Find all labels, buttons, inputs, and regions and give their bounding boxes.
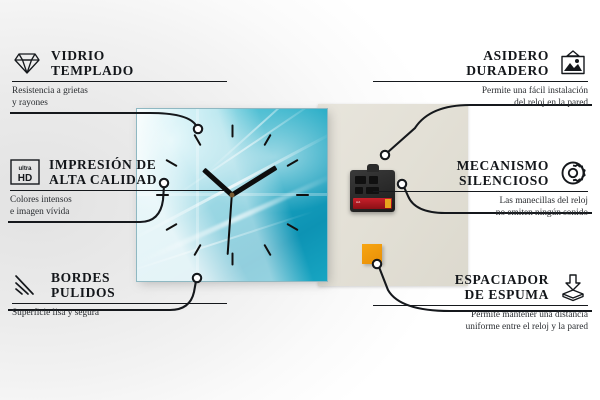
feature-title-line1: BORDES — [51, 270, 110, 285]
feature-title-line2: SILENCIOSO — [459, 173, 549, 188]
svg-text:HD: HD — [18, 173, 32, 184]
feature-title-line2: DE ESPUMA — [464, 287, 549, 302]
clock-tick — [263, 244, 271, 256]
feature-title-line1: MECANISMO — [457, 158, 549, 173]
clock-tick — [231, 253, 233, 266]
feature-title-line2: PULIDOS — [51, 285, 115, 300]
foam-spacer — [362, 244, 382, 264]
gear-icon — [558, 158, 588, 188]
feature-title-line2: DURADERO — [466, 63, 549, 78]
svg-text:ultra: ultra — [18, 166, 32, 172]
feature-desc-line2: uniforme entre el reloj y la pared — [466, 322, 588, 332]
feature-desc-line1: Colores intensos — [10, 195, 72, 205]
feature-desc-line2: del reloj en la pared — [514, 98, 588, 108]
feature-bordes-pulidos: BORDES PULIDOS Superficie lisa y segura — [12, 270, 227, 320]
diamond-icon — [12, 48, 42, 78]
feature-vidrio-templado: VIDRIO TEMPLADO Resistencia a grietas y … — [12, 48, 227, 109]
clock-center-cap — [230, 193, 235, 198]
clock-tick — [165, 223, 177, 231]
feature-desc-line1: Permite mantener una distancia — [471, 310, 588, 320]
hanging-frame-icon — [558, 48, 588, 78]
feature-title-line1: VIDRIO — [51, 48, 105, 63]
clock-tick — [296, 194, 309, 196]
feature-desc-line1: Las manecillas del reloj — [499, 196, 588, 206]
feature-title-line1: ASIDERO — [483, 48, 549, 63]
feature-asidero-duradero: ASIDERO DURADERO Permite una fácil insta… — [373, 48, 588, 109]
feature-desc-line1: Superficie lisa y segura — [12, 308, 99, 318]
feature-desc-line1: Resistencia a grietas — [12, 86, 88, 96]
feature-desc-line2: y rayones — [12, 98, 48, 108]
clock-tick — [286, 159, 298, 167]
polished-edges-icon — [12, 270, 42, 300]
feature-desc-line2: e imagen vívida — [10, 207, 69, 217]
feature-title-line2: TEMPLADO — [51, 63, 134, 78]
battery-label: AA — [356, 200, 360, 204]
ultra-hd-icon: ultra HD — [10, 157, 40, 187]
foam-spacer-icon — [558, 272, 588, 302]
clock-tick — [231, 125, 233, 138]
clock-tick — [286, 223, 298, 231]
feature-impresion-alta-calidad: ultra HD IMPRESIÓN DE ALTA CALIDAD Color… — [10, 157, 225, 218]
feature-title-line2: ALTA CALIDAD — [49, 172, 157, 187]
feature-mecanismo-silencioso: MECANISMO SILENCIOSO Las manecillas del … — [373, 158, 588, 219]
infographic-canvas: AA — [0, 0, 600, 400]
feature-title-line1: ESPACIADOR — [455, 272, 549, 287]
feature-title-line1: IMPRESIÓN DE — [49, 157, 156, 172]
feature-desc-line1: Permite una fácil instalación — [482, 86, 588, 96]
feature-desc-line2: no emiten ningún sonido — [496, 208, 588, 218]
feature-espaciador-espuma: ESPACIADOR DE ESPUMA Permite mantener un… — [373, 272, 588, 333]
